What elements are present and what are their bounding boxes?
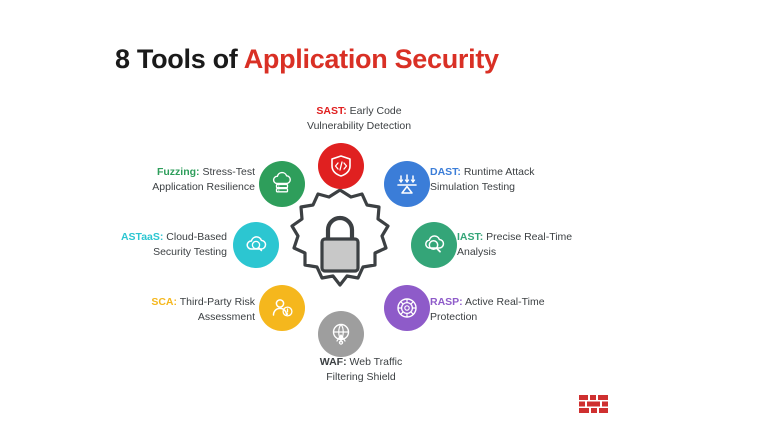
label-sast-key: SAST:: [316, 105, 346, 117]
gear-shield-icon: [394, 295, 420, 321]
node-fuzzing[interactable]: [259, 161, 305, 207]
label-astaas: ASTaaS: Cloud-Based Security Testing: [105, 230, 227, 259]
label-rasp: RASP: Active Real-Time Protection: [430, 295, 595, 324]
title-lead: 8 Tools of: [115, 44, 244, 74]
label-waf-line1-rest: Web Traffic: [350, 356, 403, 368]
label-waf-line2: Filtering Shield: [286, 370, 436, 385]
node-sca[interactable]: [259, 285, 305, 331]
label-rasp-line2: Protection: [430, 310, 595, 325]
label-fuzzing-key: Fuzzing:: [157, 166, 200, 178]
label-iast-key: IAST:: [457, 231, 483, 243]
label-astaas-line1-rest: Cloud-Based: [166, 231, 227, 243]
node-dast[interactable]: [384, 161, 430, 207]
label-fuzzing-line2: Application Resilience: [143, 180, 255, 195]
label-sca-line2: Assessment: [130, 310, 255, 325]
node-iast[interactable]: [411, 222, 457, 268]
node-rasp[interactable]: [384, 285, 430, 331]
title-accent: Application Security: [244, 44, 499, 74]
page-title: 8 Tools of Application Security: [115, 44, 499, 75]
slide-canvas: 8 Tools of Application Security SAST: Ea…: [0, 0, 784, 441]
label-iast: IAST: Precise Real-Time Analysis: [457, 230, 622, 259]
label-sast-line1-rest: Early Code: [350, 105, 402, 117]
label-sast-line2: Vulnerability Detection: [284, 119, 434, 134]
label-sca-key: SCA:: [151, 296, 177, 308]
label-waf-key: WAF:: [320, 356, 347, 368]
label-astaas-line2: Security Testing: [105, 245, 227, 260]
label-sca: SCA: Third-Party Risk Assessment: [130, 295, 255, 324]
node-astaas[interactable]: [233, 222, 279, 268]
label-iast-line2: Analysis: [457, 245, 622, 260]
label-sca-line1-rest: Third-Party Risk: [180, 296, 255, 308]
label-dast-line2: Simulation Testing: [430, 180, 590, 195]
cloud-test-icon: [243, 232, 269, 258]
label-fuzzing: Fuzzing: Stress-Test Application Resilie…: [143, 165, 255, 194]
label-fuzzing-line1-rest: Stress-Test: [202, 166, 255, 178]
label-rasp-line1-rest: Active Real-Time: [465, 296, 545, 308]
magnifier-cloud-icon: [421, 232, 447, 258]
node-sast[interactable]: [318, 143, 364, 189]
user-risk-icon: [269, 295, 295, 321]
cloud-server-icon: [269, 171, 295, 197]
label-dast: DAST: Runtime Attack Simulation Testing: [430, 165, 590, 194]
attack-target-icon: [394, 171, 420, 197]
label-dast-key: DAST:: [430, 166, 461, 178]
label-dast-line1-rest: Runtime Attack: [464, 166, 535, 178]
gear-padlock-icon: [279, 184, 401, 306]
label-astaas-key: ASTaaS:: [121, 231, 163, 243]
node-waf[interactable]: [318, 311, 364, 357]
label-waf: WAF: Web Traffic Filtering Shield: [286, 355, 436, 384]
brand-logo: [578, 392, 610, 416]
label-rasp-key: RASP:: [430, 296, 463, 308]
label-iast-line1-rest: Precise Real-Time: [486, 231, 572, 243]
shield-code-icon: [328, 153, 354, 179]
web-filter-icon: [328, 321, 354, 347]
label-sast: SAST: Early Code Vulnerability Detection: [284, 104, 434, 133]
